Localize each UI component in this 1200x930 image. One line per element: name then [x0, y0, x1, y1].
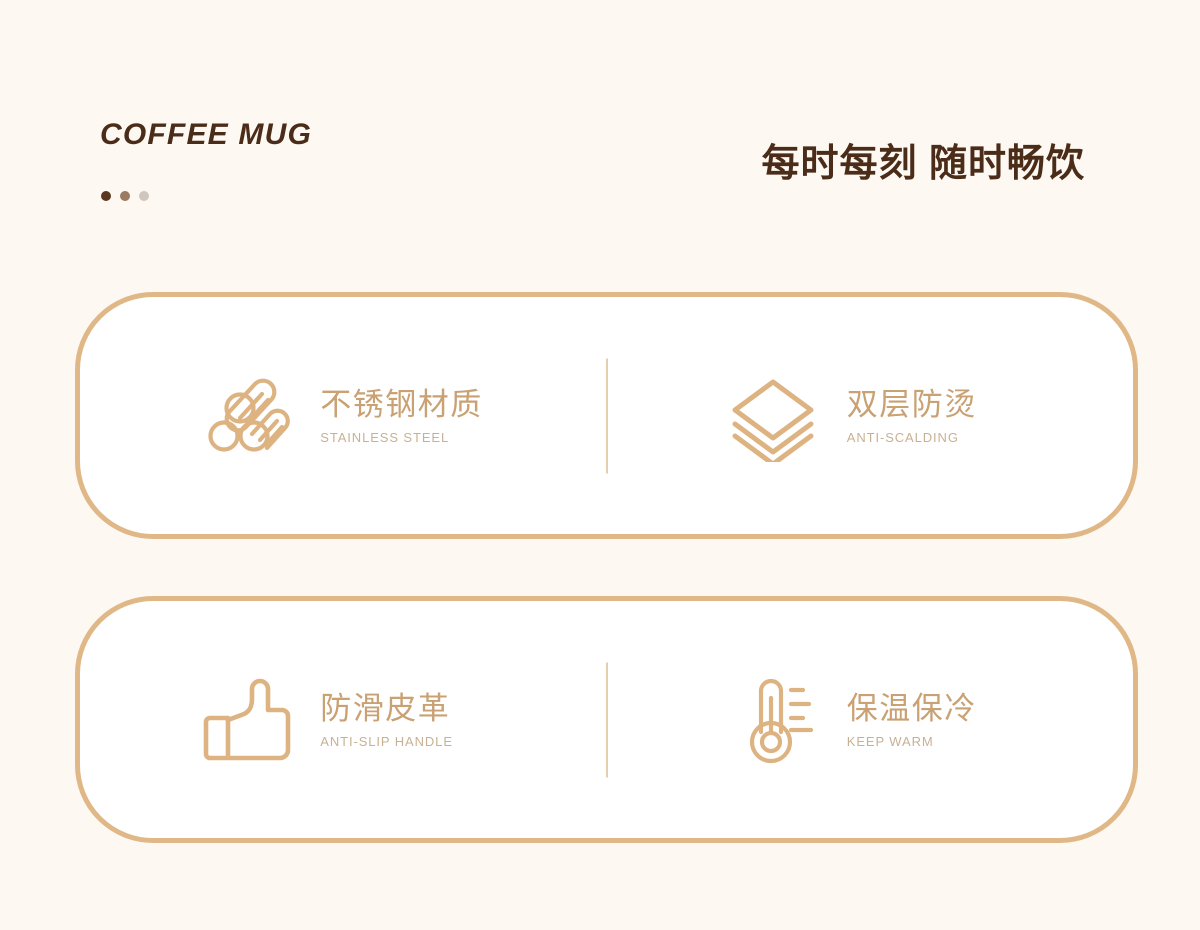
thermometer-icon [725, 672, 821, 768]
column-divider [606, 662, 608, 777]
feature-title-cn: 不锈钢材质 [320, 386, 483, 424]
feature-anti-scalding: 双层防烫 ANTI-SCALDING [607, 368, 1134, 464]
layers-icon [725, 368, 821, 464]
headline-slogan: 每时每刻 随时畅饮 [761, 132, 1085, 187]
thumbs-up-icon [198, 672, 294, 768]
feature-keep-warm: 保温保冷 KEEP WARM [607, 672, 1134, 768]
dot-indicator-group [101, 191, 149, 201]
feature-title-cn: 保温保冷 [847, 690, 977, 728]
page-title: COFFEE MUG [100, 118, 312, 152]
feature-text-block: 防滑皮革 ANTI-SLIP HANDLE [320, 690, 488, 750]
dot-second [120, 191, 130, 201]
column-divider [606, 358, 608, 473]
feature-text-block: 保温保冷 KEEP WARM [847, 690, 1015, 750]
feature-title-cn: 双层防烫 [847, 386, 977, 424]
header: COFFEE MUG 每时每刻 随时畅饮 [0, 0, 1200, 250]
feature-title-en: STAINLESS STEEL [320, 430, 449, 445]
feature-card-inner: 不锈钢材质 STAINLESS STEEL 双层防烫 ANTI-SCALDING [80, 297, 1133, 534]
feature-title-en: KEEP WARM [847, 734, 934, 749]
feature-title-en: ANTI-SCALDING [847, 430, 959, 445]
product-feature-infographic: COFFEE MUG 每时每刻 随时畅饮 [0, 0, 1200, 930]
feature-title-cn: 防滑皮革 [320, 690, 450, 728]
feature-title-en: ANTI-SLIP HANDLE [320, 734, 453, 749]
dot-active [101, 191, 111, 201]
feature-card-materials: 不锈钢材质 STAINLESS STEEL 双层防烫 ANTI-SCALDING [75, 292, 1138, 539]
steel-pipes-icon [198, 368, 294, 464]
feature-text-block: 不锈钢材质 STAINLESS STEEL [320, 386, 488, 446]
feature-anti-slip-handle: 防滑皮革 ANTI-SLIP HANDLE [80, 672, 607, 768]
feature-stainless-steel: 不锈钢材质 STAINLESS STEEL [80, 368, 607, 464]
feature-card-comfort: 防滑皮革 ANTI-SLIP HANDLE [75, 596, 1138, 843]
feature-card-inner: 防滑皮革 ANTI-SLIP HANDLE [80, 601, 1133, 838]
feature-text-block: 双层防烫 ANTI-SCALDING [847, 386, 1015, 446]
dot-third [139, 191, 149, 201]
